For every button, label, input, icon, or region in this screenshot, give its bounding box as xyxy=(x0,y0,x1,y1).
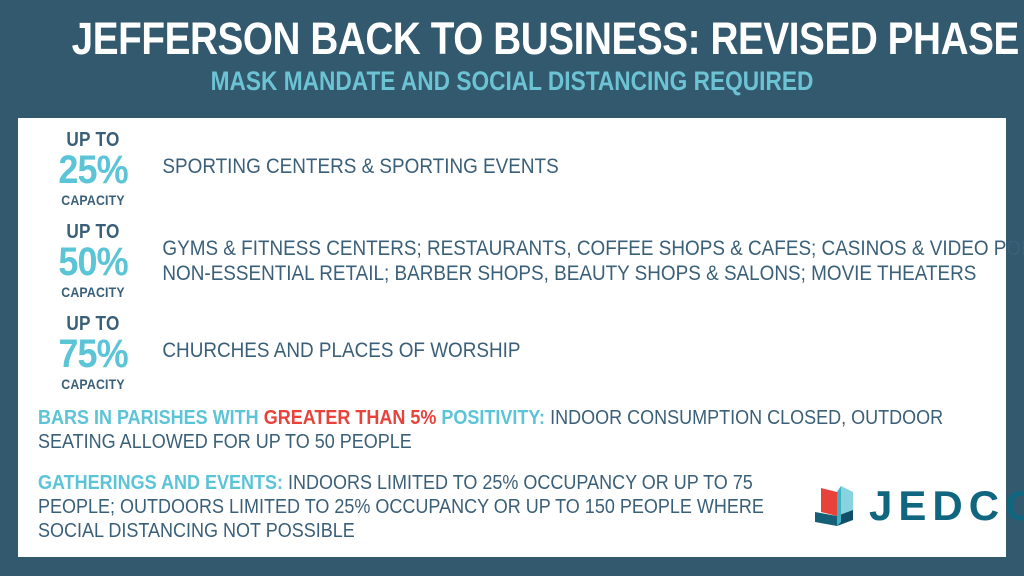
jedco-wordmark: JEDCO xyxy=(857,485,1024,527)
capacity-line: NON-ESSENTIAL RETAIL; BARBER SHOPS, BEAU… xyxy=(148,261,1024,286)
capacity-description-75: CHURCHES AND PLACES OF WORSHIP xyxy=(148,311,562,363)
badge-percent-value: 50% xyxy=(44,242,143,282)
note-bars-label-b: POSITIVITY: xyxy=(436,407,545,429)
jedco-logo: JEDCO xyxy=(811,482,1024,530)
page-subtitle: MASK MANDATE AND SOCIAL DISTANCING REQUI… xyxy=(82,64,942,96)
capacity-badge-50: UP TO 50% CAPACITY xyxy=(38,219,148,300)
badge-percent-value: 25% xyxy=(44,150,143,190)
badge-upto-label: UP TO xyxy=(46,222,141,242)
badge-capacity-label: CAPACITY xyxy=(45,374,142,392)
capacity-line: CHURCHES AND PLACES OF WORSHIP xyxy=(148,311,521,363)
badge-upto-label: UP TO xyxy=(46,130,141,150)
capacity-row-50: UP TO 50% CAPACITY GYMS & FITNESS CENTER… xyxy=(38,219,1024,300)
note-bars-positivity: BARS IN PARISHES WITH GREATER THAN 5% PO… xyxy=(38,406,992,454)
capacity-badge-75: UP TO 75% CAPACITY xyxy=(38,311,148,392)
badge-percent-value: 75% xyxy=(44,334,143,374)
capacity-row-75: UP TO 75% CAPACITY CHURCHES AND PLACES O… xyxy=(38,311,562,392)
infographic-slide: JEFFERSON BACK TO BUSINESS: REVISED PHAS… xyxy=(0,0,1024,576)
capacity-line: GYMS & FITNESS CENTERS; RESTAURANTS, COF… xyxy=(148,219,1024,261)
badge-upto-label: UP TO xyxy=(46,314,141,334)
note-gatherings-events: GATHERINGS AND EVENTS: INDOORS LIMITED T… xyxy=(38,471,821,543)
note-gatherings-label: GATHERINGS AND EVENTS: xyxy=(38,472,283,494)
page-title: JEFFERSON BACK TO BUSINESS: REVISED PHAS… xyxy=(72,0,953,64)
capacity-description-50: GYMS & FITNESS CENTERS; RESTAURANTS, COF… xyxy=(148,219,1024,286)
note-bars-label-a: BARS IN PARISHES WITH xyxy=(38,407,264,429)
jedco-book-mark-icon xyxy=(811,482,857,530)
badge-capacity-label: CAPACITY xyxy=(45,282,142,300)
capacity-line: SPORTING CENTERS & SPORTING EVENTS xyxy=(148,127,559,179)
badge-capacity-label: CAPACITY xyxy=(45,190,142,208)
capacity-row-25: UP TO 25% CAPACITY SPORTING CENTERS & SP… xyxy=(38,127,604,208)
content-card: UP TO 25% CAPACITY SPORTING CENTERS & SP… xyxy=(18,118,1006,557)
capacity-description-25: SPORTING CENTERS & SPORTING EVENTS xyxy=(148,127,604,179)
note-bars-highlight: GREATER THAN 5% xyxy=(264,407,437,429)
capacity-badge-25: UP TO 25% CAPACITY xyxy=(38,127,148,208)
header: JEFFERSON BACK TO BUSINESS: REVISED PHAS… xyxy=(0,0,1024,112)
